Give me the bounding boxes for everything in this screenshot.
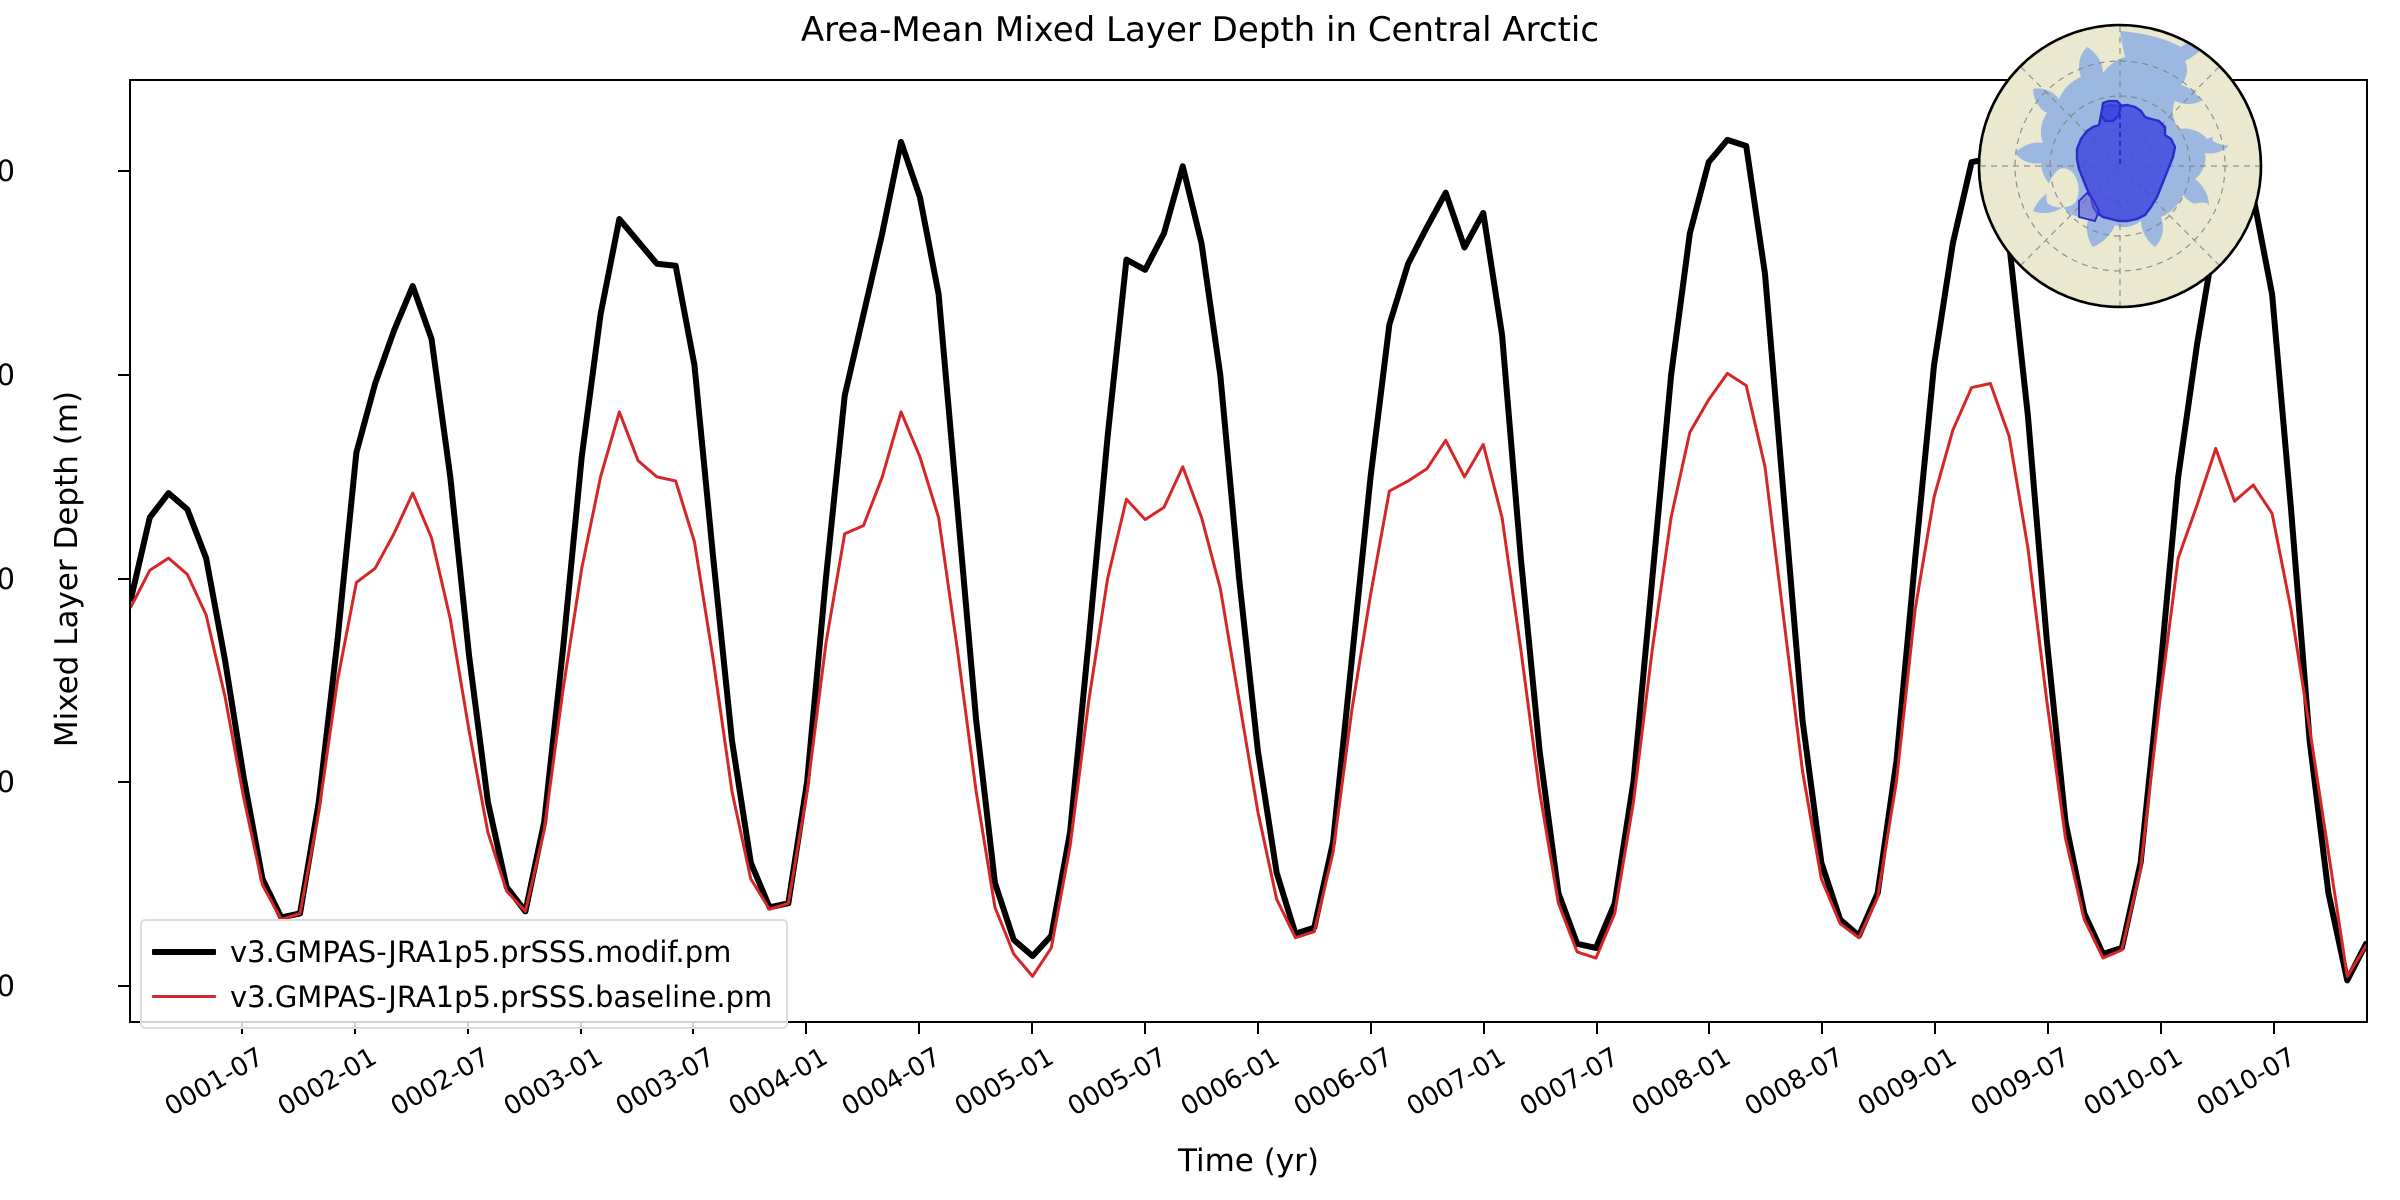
x-tick-label: 0007-01 bbox=[1374, 1042, 1510, 1138]
chart-legend: v3.GMPAS-JRA1p5.prSSS.modif.pmv3.GMPAS-J… bbox=[140, 919, 788, 1029]
y-tick-mark bbox=[118, 781, 129, 783]
y-tick-label: 20 bbox=[0, 765, 15, 799]
y-tick-label: 50 bbox=[0, 154, 15, 188]
chart-figure: Area-Mean Mixed Layer Depth in Central A… bbox=[0, 0, 2400, 1200]
legend-color-swatch bbox=[152, 949, 216, 955]
x-tick-label: 0009-01 bbox=[1826, 1042, 1962, 1138]
x-tick-label: 0005-01 bbox=[923, 1042, 1059, 1138]
x-tick-mark bbox=[1031, 1023, 1033, 1034]
x-tick-mark bbox=[1144, 1023, 1146, 1034]
legend-item[interactable]: v3.GMPAS-JRA1p5.prSSS.baseline.pm bbox=[152, 974, 772, 1019]
x-tick-label: 0002-07 bbox=[358, 1042, 494, 1138]
x-tick-mark bbox=[2047, 1023, 2049, 1034]
legend-color-swatch bbox=[152, 995, 216, 998]
x-tick-mark bbox=[1483, 1023, 1485, 1034]
x-tick-mark bbox=[805, 1023, 807, 1034]
x-tick-label: 0007-07 bbox=[1487, 1042, 1623, 1138]
x-tick-label: 0001-07 bbox=[133, 1042, 269, 1138]
x-tick-mark bbox=[1708, 1023, 1710, 1034]
x-tick-label: 0005-07 bbox=[1036, 1042, 1172, 1138]
x-tick-label: 0010-01 bbox=[2052, 1042, 2188, 1138]
x-tick-label: 0010-07 bbox=[2165, 1042, 2301, 1138]
x-tick-label: 0006-07 bbox=[1262, 1042, 1398, 1138]
x-tick-mark bbox=[1370, 1023, 1372, 1034]
y-tick-label: 30 bbox=[0, 562, 15, 596]
x-tick-label: 0009-07 bbox=[1939, 1042, 2075, 1138]
x-tick-mark bbox=[2273, 1023, 2275, 1034]
y-tick-mark bbox=[118, 578, 129, 580]
central-arctic-region-map bbox=[1975, 21, 2265, 311]
legend-label: v3.GMPAS-JRA1p5.prSSS.baseline.pm bbox=[230, 982, 772, 1012]
y-tick-mark bbox=[118, 985, 129, 987]
x-tick-label: 0003-07 bbox=[584, 1042, 720, 1138]
x-tick-mark bbox=[1821, 1023, 1823, 1034]
x-tick-label: 0004-01 bbox=[697, 1042, 833, 1138]
y-tick-label: 40 bbox=[0, 358, 15, 392]
legend-item[interactable]: v3.GMPAS-JRA1p5.prSSS.modif.pm bbox=[152, 929, 772, 974]
x-tick-label: 0004-07 bbox=[810, 1042, 946, 1138]
y-tick-label: 10 bbox=[0, 969, 15, 1003]
x-tick-label: 0002-01 bbox=[246, 1042, 382, 1138]
x-tick-label: 0003-01 bbox=[471, 1042, 607, 1138]
y-tick-mark bbox=[118, 170, 129, 172]
x-tick-mark bbox=[1934, 1023, 1936, 1034]
x-tick-mark bbox=[1596, 1023, 1598, 1034]
x-axis-label: Time (yr) bbox=[129, 1143, 2368, 1179]
y-tick-mark bbox=[118, 374, 129, 376]
x-tick-mark bbox=[1257, 1023, 1259, 1034]
x-tick-label: 0006-01 bbox=[1149, 1042, 1285, 1138]
x-tick-label: 0008-07 bbox=[1713, 1042, 1849, 1138]
x-tick-mark bbox=[2160, 1023, 2162, 1034]
y-axis-label: Mixed Layer Depth (m) bbox=[49, 269, 85, 869]
legend-label: v3.GMPAS-JRA1p5.prSSS.modif.pm bbox=[230, 937, 731, 967]
x-tick-mark bbox=[918, 1023, 920, 1034]
x-tick-label: 0008-01 bbox=[1600, 1042, 1736, 1138]
